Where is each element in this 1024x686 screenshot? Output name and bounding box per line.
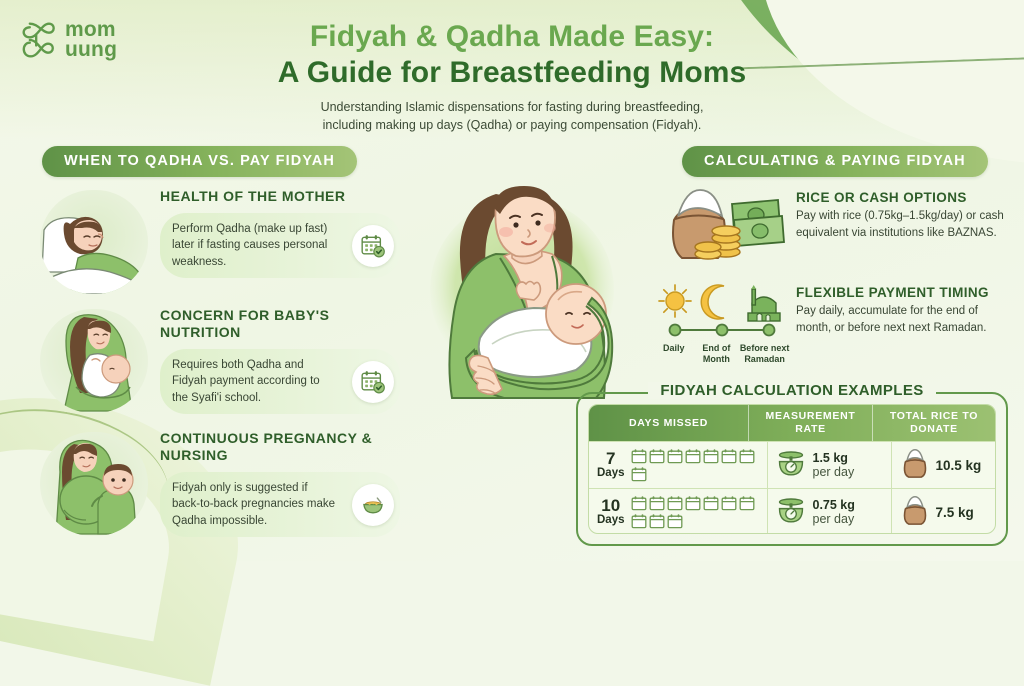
mother-breastfeeding-baby-illustration <box>40 309 148 413</box>
cell-total-rice: 7.5 kg <box>892 489 996 534</box>
cell-measurement-rate: 1.5 kg per day <box>768 442 892 488</box>
calendar-icon <box>739 448 755 464</box>
calendar-icon <box>631 466 647 482</box>
page-subtitle: Understanding Islamic dispensations for … <box>0 99 1024 135</box>
block-title: FLEXIBLE PAYMENT TIMING <box>796 285 1012 300</box>
block-text: FLEXIBLE PAYMENT TIMING Pay daily, accum… <box>796 285 1012 336</box>
card-body: Requires both Qadha and Fidyah payment a… <box>160 349 400 414</box>
total-value: 7.5 kg <box>936 505 974 520</box>
cell-measurement-rate: 0.75 kg per day <box>768 489 892 534</box>
calendar-icon <box>649 495 665 511</box>
kitchen-scale-icon <box>776 448 806 482</box>
card-content: CONTINUOUS PREGNANCY & NURSING Fidyah on… <box>160 430 400 537</box>
calendar-icon <box>649 513 665 529</box>
page-title-line-1: Fidyah & Qadha Made Easy: <box>0 20 1024 54</box>
rate-value: 0.75 kg <box>813 498 855 513</box>
card-title: HEALTH OF THE MOTHER <box>160 188 400 205</box>
timeline-label-line-1: Daily <box>652 343 696 354</box>
card-body: Perform Qadha (make up fast) later if fa… <box>160 213 400 278</box>
mother-resting-in-bed-illustration <box>40 190 148 294</box>
block-body: Pay daily, accumulate for the end of mon… <box>796 303 1012 336</box>
card-text: Fidyah only is suggested if back-to-back… <box>172 480 338 529</box>
column-header-measurement-rate: MEASUREMENT RATE <box>749 405 873 441</box>
fidyah-table-heading: FIDYAH CALCULATION EXAMPLES <box>576 382 1008 400</box>
calendar-icon <box>703 448 719 464</box>
total-value: 10.5 kg <box>936 458 982 473</box>
block-title: RICE OR CASH OPTIONS <box>796 190 1010 205</box>
page-title-line-2: A Guide for Breastfeeding Moms <box>0 56 1024 90</box>
block-body: Pay with rice (0.75kg–1.5kg/day) or cash… <box>796 208 1010 241</box>
calendar-icon <box>721 495 737 511</box>
timeline-label-end-of-month: End of Month <box>696 343 738 365</box>
block-rice-or-cash-options: RICE OR CASH OPTIONS Pay with rice (0.75… <box>660 186 1010 266</box>
block-text: RICE OR CASH OPTIONS Pay with rice (0.75… <box>796 190 1010 241</box>
timeline-label-line-2: Ramadan <box>737 354 792 365</box>
days-label: Days <box>597 467 625 480</box>
page-header: Fidyah & Qadha Made Easy: A Guide for Br… <box>0 20 1024 135</box>
calendar-icon <box>667 495 683 511</box>
timeline-label-before-next-ramadan: Before next Ramadan <box>737 343 792 365</box>
page-subtitle-line-1: Understanding Islamic dispensations for … <box>0 99 1024 117</box>
calendar-check-icon <box>352 225 394 267</box>
infographic-canvas: mom uung Fidyah & Qadha Made Easy: A Gui… <box>0 0 1024 561</box>
calendar-icon-group <box>631 448 759 482</box>
card-concern-for-babys-nutrition: CONCERN FOR BABY'S NUTRITION Requires bo… <box>40 307 400 419</box>
days-number: 7 <box>597 450 625 467</box>
kitchen-scale-icon <box>776 495 806 529</box>
rice-sack-icon <box>900 495 930 530</box>
timeline-label-line-2: Month <box>696 354 738 365</box>
column-header-days-missed: DAYS MISSED <box>589 405 749 441</box>
calendar-icon-group <box>631 495 759 529</box>
card-content: HEALTH OF THE MOTHER Perform Qadha (make… <box>160 188 400 278</box>
fidyah-table-heading-text: FIDYAH CALCULATION EXAMPLES <box>648 382 935 399</box>
card-health-of-the-mother: HEALTH OF THE MOTHER Perform Qadha (make… <box>40 188 400 300</box>
calendar-icon <box>667 513 683 529</box>
cell-days-missed: 10 Days <box>589 489 768 534</box>
block-flexible-payment-timing: Daily End of Month Before next Ramadan F… <box>652 281 1012 366</box>
card-content: CONCERN FOR BABY'S NUTRITION Requires bo… <box>160 307 400 414</box>
timeline-label-line-1: End of <box>696 343 738 354</box>
card-body: Fidyah only is suggested if back-to-back… <box>160 472 400 537</box>
calendar-icon <box>703 495 719 511</box>
page-subtitle-line-2: including making up days (Qadha) or payi… <box>0 117 1024 135</box>
calendar-icon <box>721 448 737 464</box>
rice-sack-icon <box>900 448 930 483</box>
calendar-icon <box>667 448 683 464</box>
days-number: 10 <box>597 497 625 514</box>
timeline-sun-moon-mosque-icon <box>652 281 792 346</box>
card-text: Perform Qadha (make up fast) later if fa… <box>172 221 338 270</box>
timeline-label-line-1: Before next <box>737 343 792 354</box>
timeline-label-daily: Daily <box>652 343 696 365</box>
calendar-icon <box>631 513 647 529</box>
days-label: Days <box>597 514 625 527</box>
rate-value: 1.5 kg <box>813 451 855 466</box>
calendar-icon <box>649 448 665 464</box>
rice-bowl-icon <box>352 484 394 526</box>
calendar-icon <box>631 495 647 511</box>
rice-sack-money-coins-icon <box>660 186 788 269</box>
card-title: CONTINUOUS PREGNANCY & NURSING <box>160 430 400 464</box>
calendar-icon <box>739 495 755 511</box>
section-title-calculating-fidyah: CALCULATING & PAYING FIDYAH <box>682 146 988 177</box>
calendar-icon <box>685 448 701 464</box>
mother-breastfeeding-baby-main-illustration <box>400 162 650 412</box>
section-title-when-to-qadha: WHEN TO QADHA VS. PAY FIDYAH <box>42 146 357 177</box>
rate-unit: per day <box>813 512 855 526</box>
table-row: 7 Days 1.5 kg per day <box>589 441 995 488</box>
card-text: Requires both Qadha and Fidyah payment a… <box>172 357 338 406</box>
table-row: 10 Days 0.75 kg per day <box>589 488 995 534</box>
fidyah-calculation-table: DAYS MISSED MEASUREMENT RATE TOTAL RICE … <box>588 404 996 534</box>
pregnant-mother-with-toddler-illustration <box>40 432 148 536</box>
cell-days-missed: 7 Days <box>589 442 768 488</box>
table-header-row: DAYS MISSED MEASUREMENT RATE TOTAL RICE … <box>589 405 995 441</box>
rate-unit: per day <box>813 465 855 479</box>
card-continuous-pregnancy-nursing: CONTINUOUS PREGNANCY & NURSING Fidyah on… <box>40 430 400 542</box>
calendar-check-icon <box>352 361 394 403</box>
card-title: CONCERN FOR BABY'S NUTRITION <box>160 307 400 341</box>
cell-total-rice: 10.5 kg <box>892 442 996 488</box>
column-header-total-rice-to-donate: TOTAL RICE TO DONATE <box>873 405 995 441</box>
calendar-icon <box>631 448 647 464</box>
calendar-icon <box>685 495 701 511</box>
